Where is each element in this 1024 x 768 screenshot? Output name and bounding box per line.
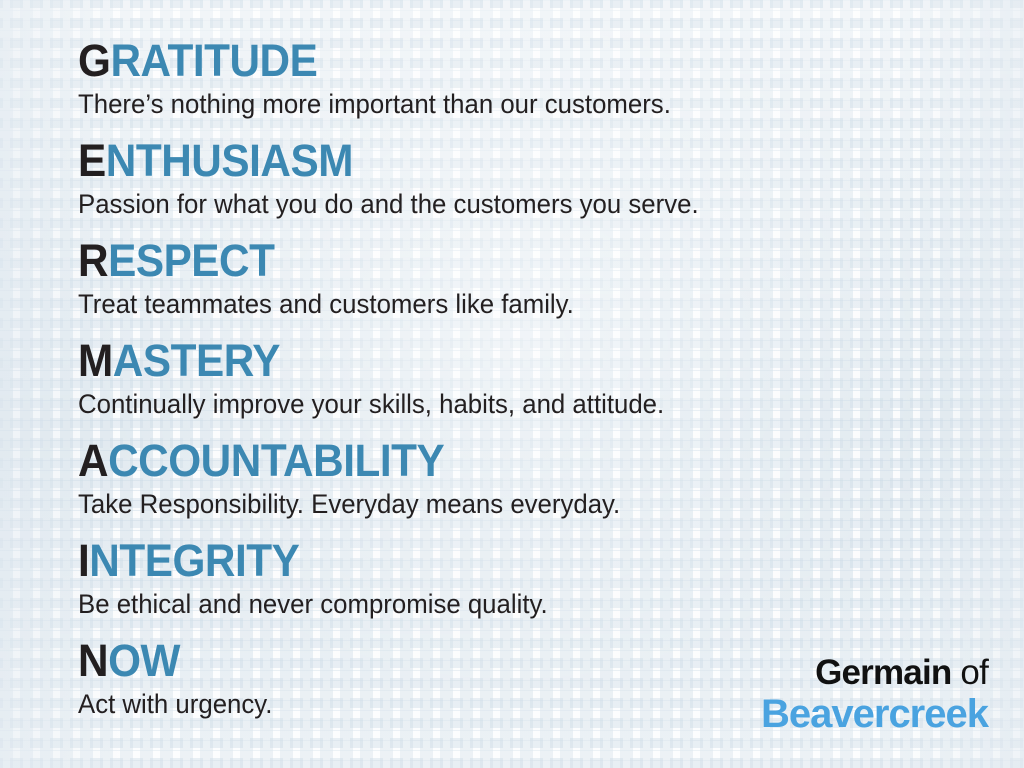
value-description-accountability: Take Responsibility. Everyday means ever… <box>78 487 938 521</box>
value-block-mastery: MASTERY Continually improve your skills,… <box>78 338 978 438</box>
value-block-enthusiasm: ENTHUSIASM Passion for what you do and t… <box>78 138 978 238</box>
value-description-gratitude: There’s nothing more important than our … <box>78 87 938 121</box>
dealership-logo: Germain of Beavercreek <box>761 653 988 736</box>
value-title-remainder: RATITUDE <box>110 35 317 86</box>
logo-brand-line: Germain of <box>761 653 988 692</box>
value-block-gratitude: GRATITUDE There’s nothing more important… <box>78 38 978 138</box>
logo-location-name: Beavercreek <box>761 692 988 736</box>
value-title-remainder: ESPECT <box>108 235 274 286</box>
value-block-accountability: ACCOUNTABILITY Take Responsibility. Ever… <box>78 438 978 538</box>
value-title-enthusiasm: ENTHUSIASM <box>78 138 924 184</box>
value-initial-letter: I <box>78 535 89 586</box>
core-values-list: GRATITUDE There’s nothing more important… <box>78 38 978 738</box>
value-title-mastery: MASTERY <box>78 338 924 384</box>
value-title-accountability: ACCOUNTABILITY <box>78 438 924 484</box>
value-description-respect: Treat teammates and customers like famil… <box>78 287 938 321</box>
value-initial-letter: G <box>78 35 110 86</box>
value-block-respect: RESPECT Treat teammates and customers li… <box>78 238 978 338</box>
value-block-integrity: INTEGRITY Be ethical and never compromis… <box>78 538 978 638</box>
value-title-remainder: NTHUSIASM <box>106 135 353 186</box>
value-description-mastery: Continually improve your skills, habits,… <box>78 387 938 421</box>
value-title-remainder: OW <box>108 635 180 686</box>
value-title-integrity: INTEGRITY <box>78 538 924 584</box>
value-title-gratitude: GRATITUDE <box>78 38 924 84</box>
value-initial-letter: E <box>78 135 106 186</box>
logo-connector-word: of <box>951 653 988 692</box>
value-initial-letter: N <box>78 635 108 686</box>
value-title-remainder: NTEGRITY <box>89 535 299 586</box>
value-initial-letter: M <box>78 335 113 386</box>
value-title-respect: RESPECT <box>78 238 924 284</box>
value-initial-letter: A <box>78 435 108 486</box>
value-title-remainder: ASTERY <box>113 335 280 386</box>
value-description-enthusiasm: Passion for what you do and the customer… <box>78 187 938 221</box>
value-initial-letter: R <box>78 235 108 286</box>
values-board: GRATITUDE There’s nothing more important… <box>0 0 1024 768</box>
value-description-integrity: Be ethical and never compromise quality. <box>78 587 938 621</box>
value-title-remainder: CCOUNTABILITY <box>108 435 444 486</box>
logo-brand-name: Germain <box>815 653 951 692</box>
